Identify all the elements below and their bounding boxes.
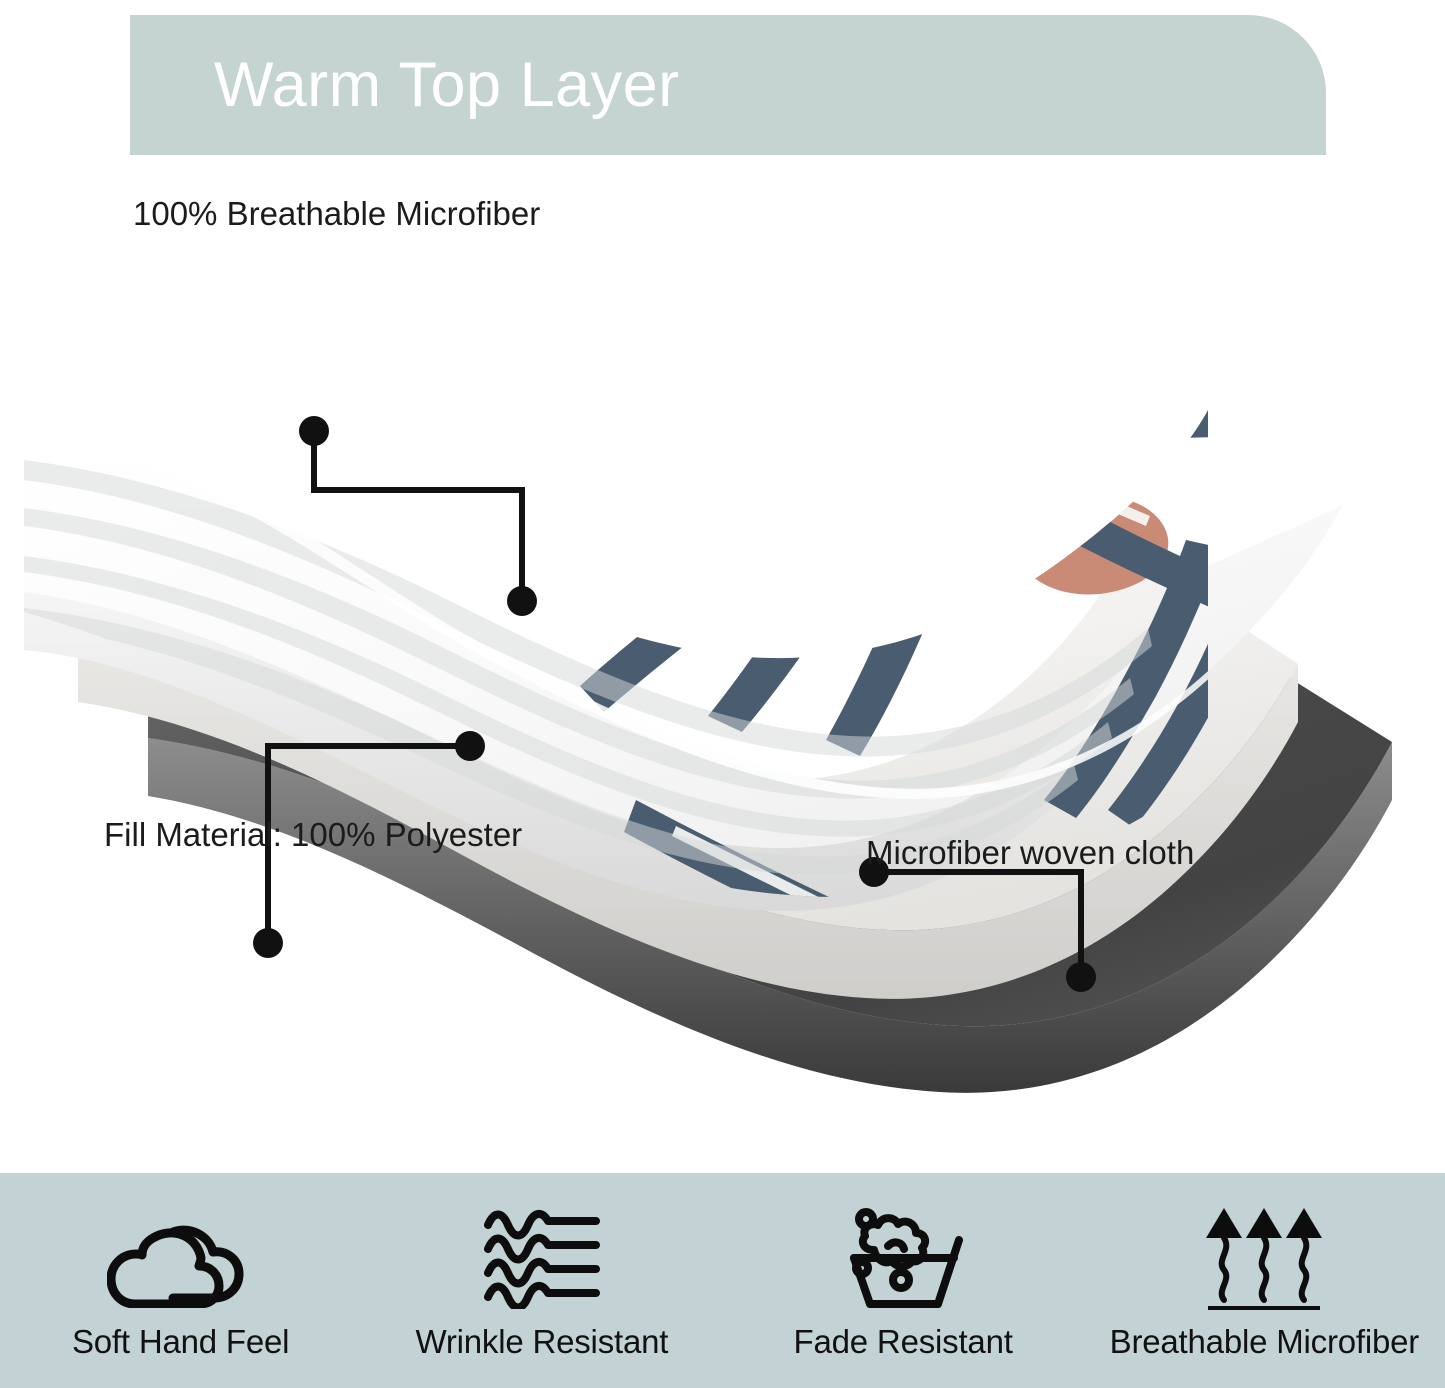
leader-dot-bottom-label [1066,962,1096,992]
header-banner: Warm Top Layer [130,15,1326,155]
feature-bar: Soft Hand Feel Wrinkle Resistant [0,1173,1445,1388]
feature-item-soft-hand-feel: Soft Hand Feel [0,1173,361,1388]
leader-line-bottom [876,872,1081,977]
feature-item-breathable-microfiber: Breathable Microfiber [1084,1173,1445,1388]
fabric-layers-illustration [0,160,1445,1170]
leader-dot-top-anchor [507,586,537,616]
page-title: Warm Top Layer [214,54,680,117]
callout-label-fill-material: Fill Material: 100% Polyester [104,818,522,851]
feature-item-fade-resistant: Fade Resistant [723,1173,1084,1388]
wash-basin-bubbles-icon [838,1205,968,1311]
feature-item-wrinkle-resistant: Wrinkle Resistant [361,1173,722,1388]
cloud-pair-icon [107,1205,255,1311]
callout-label-top-layer: 100% Breathable Microfiber [133,197,540,230]
callout-label-woven-cloth: Microfiber woven cloth [866,836,1194,869]
feature-label: Fade Resistant [794,1323,1013,1361]
wavy-to-straight-lines-icon [482,1205,602,1311]
callout-leader-lines [0,160,1445,1170]
leader-dot-top-label [299,416,329,446]
feature-label: Soft Hand Feel [72,1323,289,1361]
feature-label: Wrinkle Resistant [416,1323,669,1361]
leader-line-top [314,434,522,598]
leader-dot-fill-anchor [455,731,485,761]
feature-label: Breathable Microfiber [1110,1323,1419,1361]
upward-airflow-arrows-icon [1206,1205,1322,1311]
leader-dot-fill-label [253,928,283,958]
